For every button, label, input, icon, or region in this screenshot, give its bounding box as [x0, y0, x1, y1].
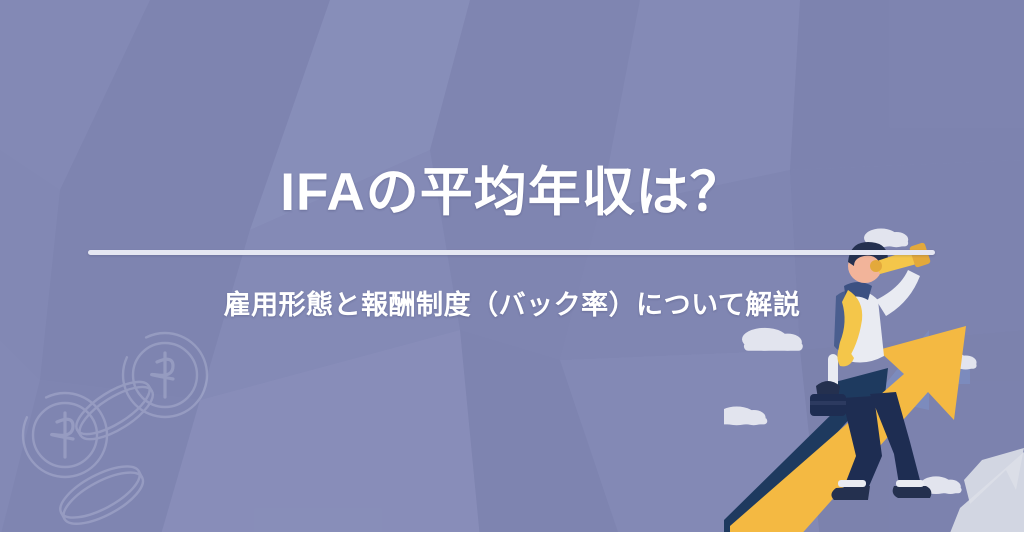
businessman-telescope-illustration [724, 208, 1024, 538]
page-title: IFAの平均年収は？ [0, 163, 1024, 224]
hero-banner: IFAの平均年収は？ 雇用形態と報酬制度（バック率）について解説 [0, 0, 1024, 538]
page-subtitle: 雇用形態と報酬制度（バック率）について解説 [0, 288, 1024, 323]
bottom-white-strip [0, 532, 1024, 538]
